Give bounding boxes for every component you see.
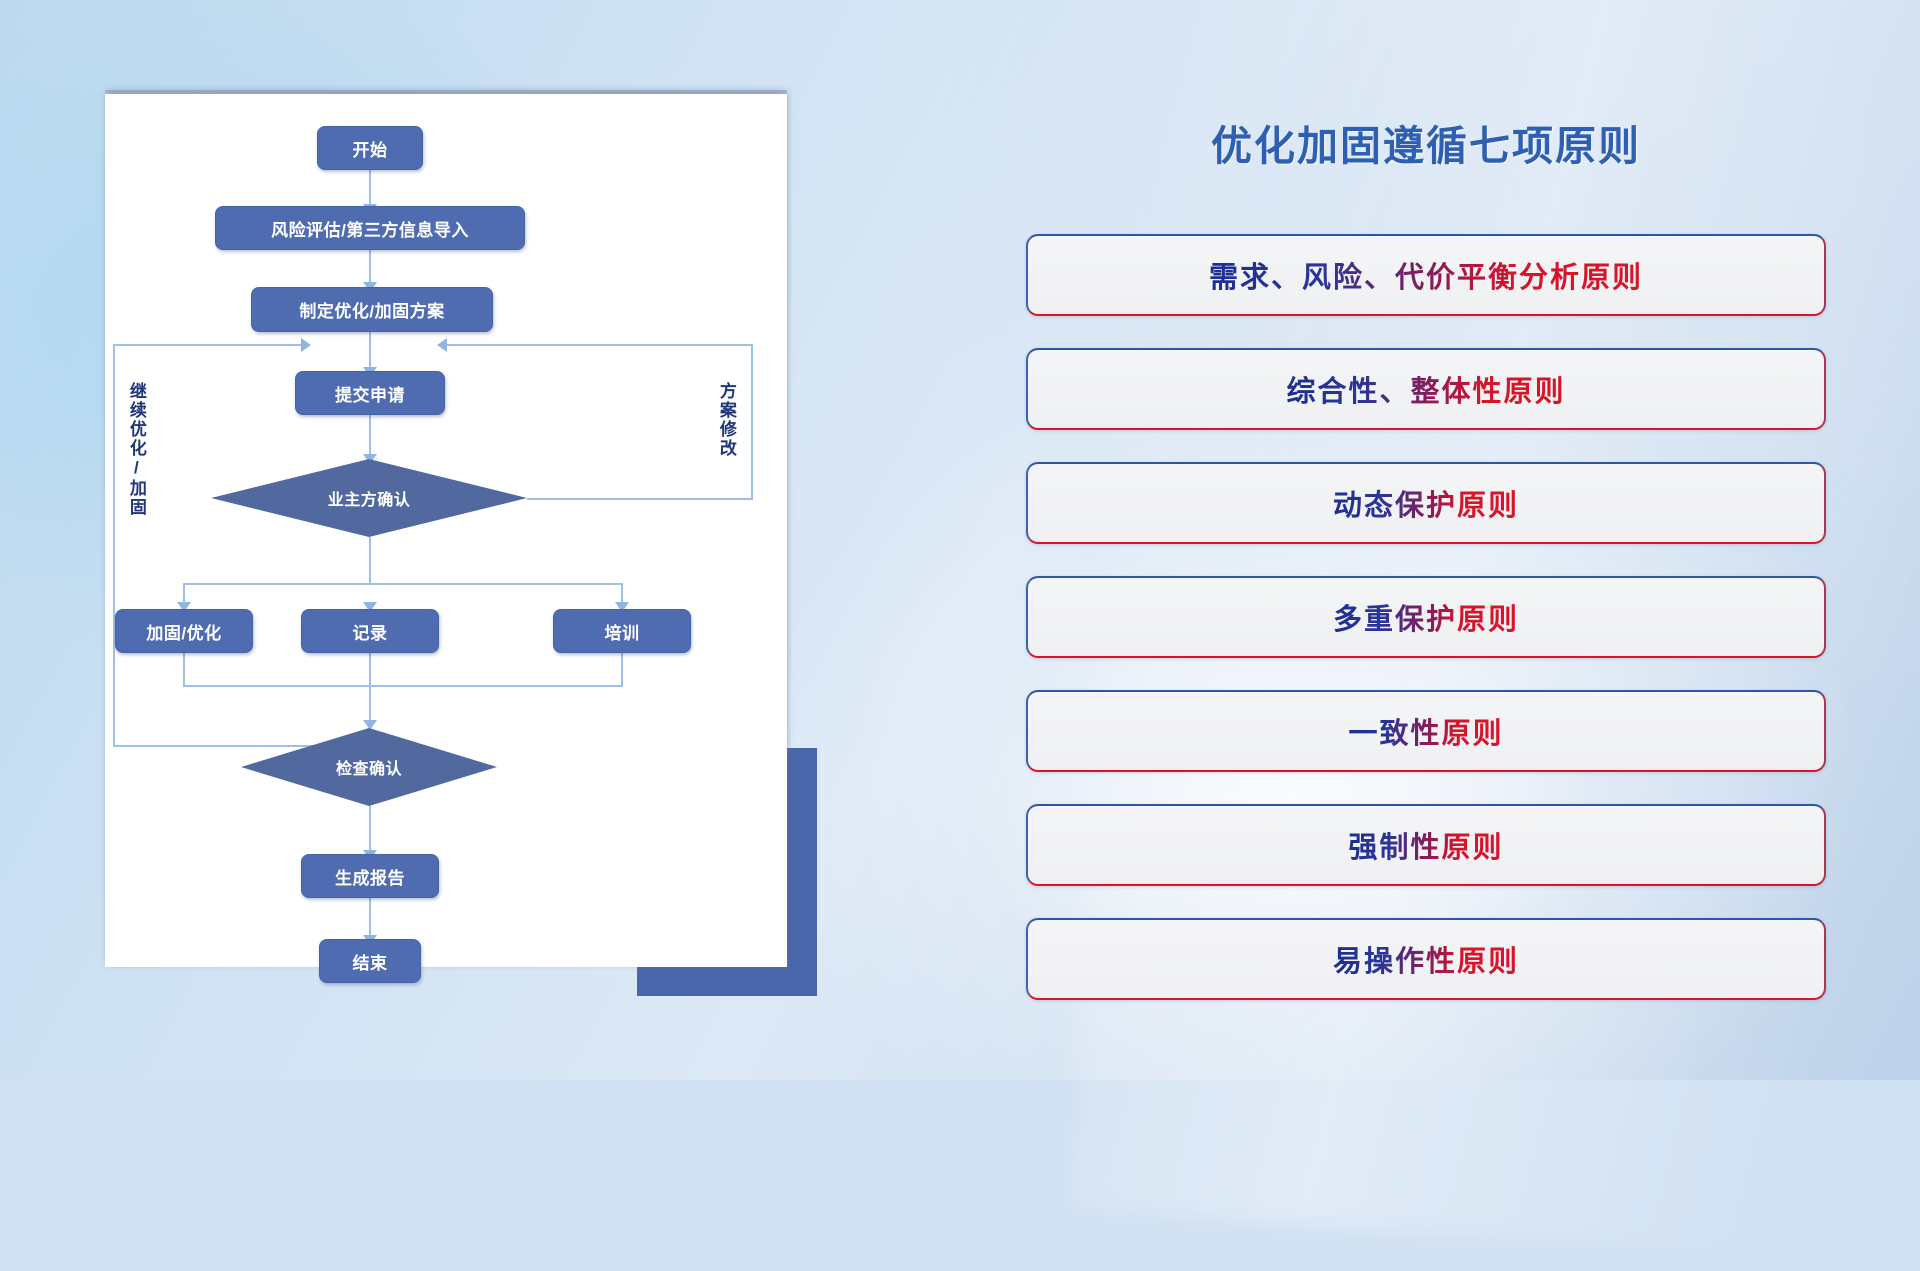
flow-node-generate-report[interactable]: 生成报告 [301, 854, 439, 898]
principles-list: 需求、风险、代价平衡分析原则 综合性、整体性原则 动态保护原则 多重保护原则 一… [1026, 234, 1826, 1032]
principles-panel: 优化加固遵循七项原则 需求、风险、代价平衡分析原则 综合性、整体性原则 动态保护… [1020, 96, 1832, 996]
connector-branch-bar [183, 583, 623, 585]
flow-node-end[interactable]: 结束 [319, 939, 421, 983]
flow-node-risk-assessment[interactable]: 风险评估/第三方信息导入 [215, 206, 525, 250]
principle-item-2-label: 综合性、整体性原则 [1286, 368, 1565, 410]
flow-node-owner-confirm-label: 业主方确认 [211, 459, 527, 537]
connector-right-loop-vertical [751, 344, 753, 500]
connector-left-loop-top [113, 344, 304, 346]
edge-label-right-loop: 方案修改 [717, 382, 735, 458]
principle-item-7[interactable]: 易操作性原则 [1026, 918, 1826, 1000]
connector-merge-bar [183, 685, 623, 687]
flowchart-diagram: 继续优化/加固 方案修改 开始 风险评估/第三方信息导入 制定优化/加固方案 [105, 94, 787, 967]
principle-item-3[interactable]: 动态保护原则 [1026, 462, 1826, 544]
arrow-left-loop-to-plan [301, 338, 311, 352]
principle-item-6[interactable]: 强制性原则 [1026, 804, 1826, 886]
principle-item-1[interactable]: 需求、风险、代价平衡分析原则 [1026, 234, 1826, 316]
flow-node-check-confirm[interactable]: 检查确认 [241, 728, 497, 806]
principle-item-5-label: 一致性原则 [1348, 710, 1503, 752]
principles-panel-title: 优化加固遵循七项原则 [1020, 112, 1832, 172]
connector-right-loop-top [447, 344, 753, 346]
flow-node-check-confirm-label: 检查确认 [241, 728, 497, 806]
connector-start-to-risk [369, 167, 371, 207]
flow-node-record[interactable]: 记录 [301, 609, 439, 653]
edge-label-left-loop: 继续优化/加固 [127, 382, 145, 517]
flow-node-start[interactable]: 开始 [317, 126, 423, 170]
connector-report-to-end [369, 895, 371, 939]
principle-item-4-label: 多重保护原则 [1333, 596, 1519, 638]
flow-node-owner-confirm[interactable]: 业主方确认 [211, 459, 527, 537]
flow-node-reinforce-optimize[interactable]: 加固/优化 [115, 609, 253, 653]
connector-submit-to-owner [369, 413, 371, 459]
flow-node-make-plan[interactable]: 制定优化/加固方案 [251, 287, 493, 332]
arrow-right-loop-to-plan [437, 338, 447, 352]
connector-train-down [621, 651, 623, 687]
principle-item-1-label: 需求、风险、代价平衡分析原则 [1209, 254, 1643, 296]
connector-record-to-check [369, 651, 371, 725]
principle-item-5[interactable]: 一致性原则 [1026, 690, 1826, 772]
connector-owner-down [369, 537, 371, 583]
connector-check-to-report [369, 806, 371, 854]
connector-left-loop-vertical [113, 344, 115, 747]
connector-risk-to-plan [369, 247, 371, 285]
connector-reinforce-down [183, 651, 185, 687]
principle-item-6-label: 强制性原则 [1348, 824, 1503, 866]
connector-right-loop-bottom [527, 498, 753, 500]
flow-node-submit-application[interactable]: 提交申请 [295, 371, 445, 415]
flow-node-training[interactable]: 培训 [553, 609, 691, 653]
principle-item-2[interactable]: 综合性、整体性原则 [1026, 348, 1826, 430]
connector-plan-to-submit [369, 329, 371, 371]
principle-item-4[interactable]: 多重保护原则 [1026, 576, 1826, 658]
principle-item-7-label: 易操作性原则 [1333, 938, 1519, 980]
flowchart-card: 继续优化/加固 方案修改 开始 风险评估/第三方信息导入 制定优化/加固方案 [105, 94, 787, 967]
principle-item-3-label: 动态保护原则 [1333, 482, 1519, 524]
